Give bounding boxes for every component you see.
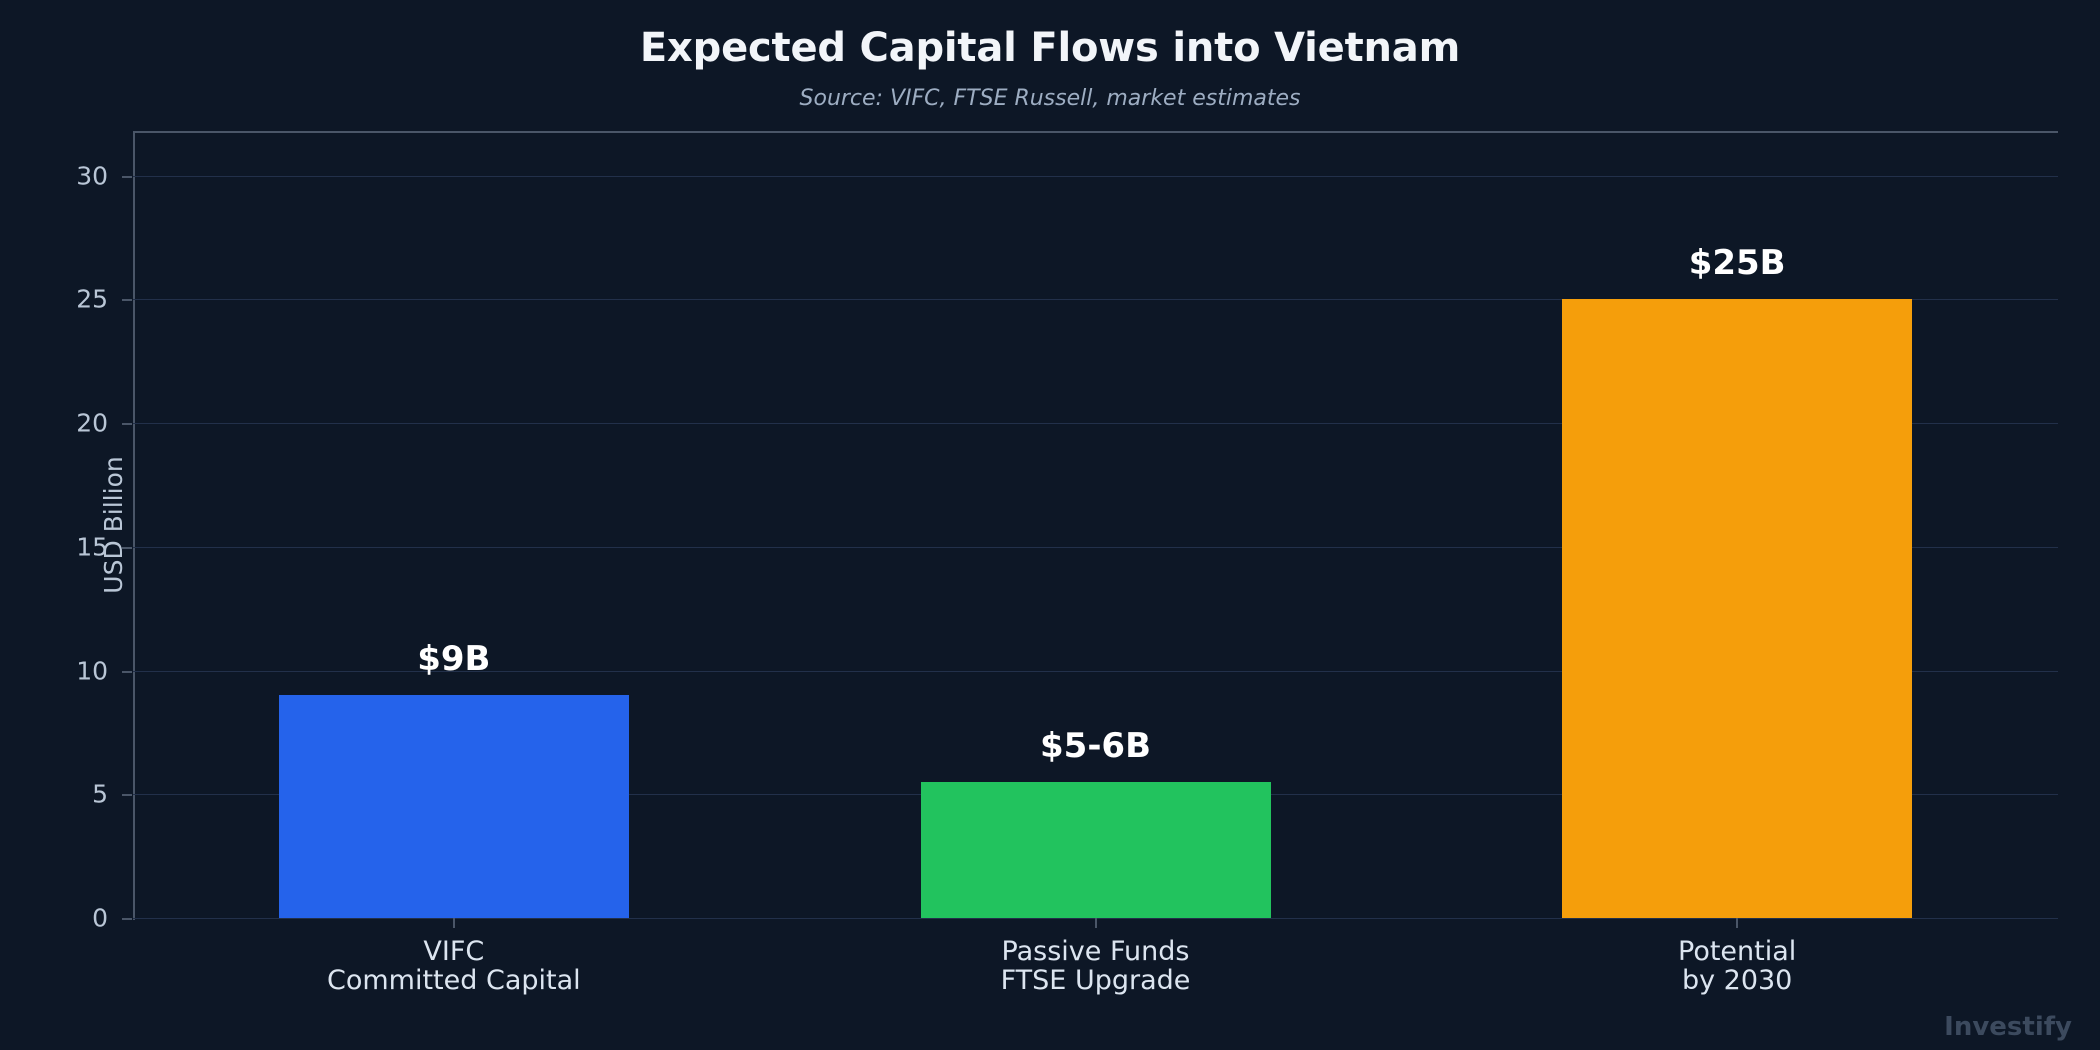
y-axis-spine [133, 131, 135, 920]
x-tick-mark [1095, 918, 1097, 928]
y-tick-mark [122, 176, 132, 178]
bar-value-label: $25B [1562, 243, 1912, 283]
chart-canvas: Expected Capital Flows into Vietnam Sour… [0, 0, 2100, 1050]
x-tick-mark [1736, 918, 1738, 928]
chart-subtitle: Source: VIFC, FTSE Russell, market estim… [0, 86, 2100, 111]
y-tick-label: 5 [18, 780, 108, 809]
chart-title: Expected Capital Flows into Vietnam [0, 25, 2100, 71]
plot-area: USD Billion 051015202530 $9B$5-6B$25B [133, 131, 2058, 918]
y-tick-label: 0 [18, 904, 108, 933]
bar-value-label: $9B [279, 639, 629, 679]
y-tick-label: 25 [18, 285, 108, 314]
y-tick-mark [122, 794, 132, 796]
x-tick-label: Potential by 2030 [1437, 937, 2037, 995]
x-tick-label: VIFC Committed Capital [154, 937, 754, 995]
bar-value-label: $5-6B [921, 726, 1271, 766]
watermark: Investify [1944, 1012, 2072, 1042]
x-tick-label: Passive Funds FTSE Upgrade [796, 937, 1396, 995]
y-tick-label: 30 [18, 161, 108, 190]
gridline [133, 176, 2058, 177]
x-tick-mark [453, 918, 455, 928]
bar[interactable] [1562, 299, 1912, 918]
y-tick-mark [122, 671, 132, 673]
bar[interactable] [279, 695, 629, 918]
y-tick-mark [122, 299, 132, 301]
y-tick-label: 10 [18, 656, 108, 685]
y-tick-label: 20 [18, 409, 108, 438]
y-tick-label: 15 [18, 532, 108, 561]
x-axis-baseline [133, 131, 2058, 133]
y-tick-mark [122, 918, 132, 920]
y-axis-title: USD Billion [99, 456, 128, 593]
y-tick-mark [122, 547, 132, 549]
bar[interactable] [921, 782, 1271, 918]
y-tick-mark [122, 423, 132, 425]
